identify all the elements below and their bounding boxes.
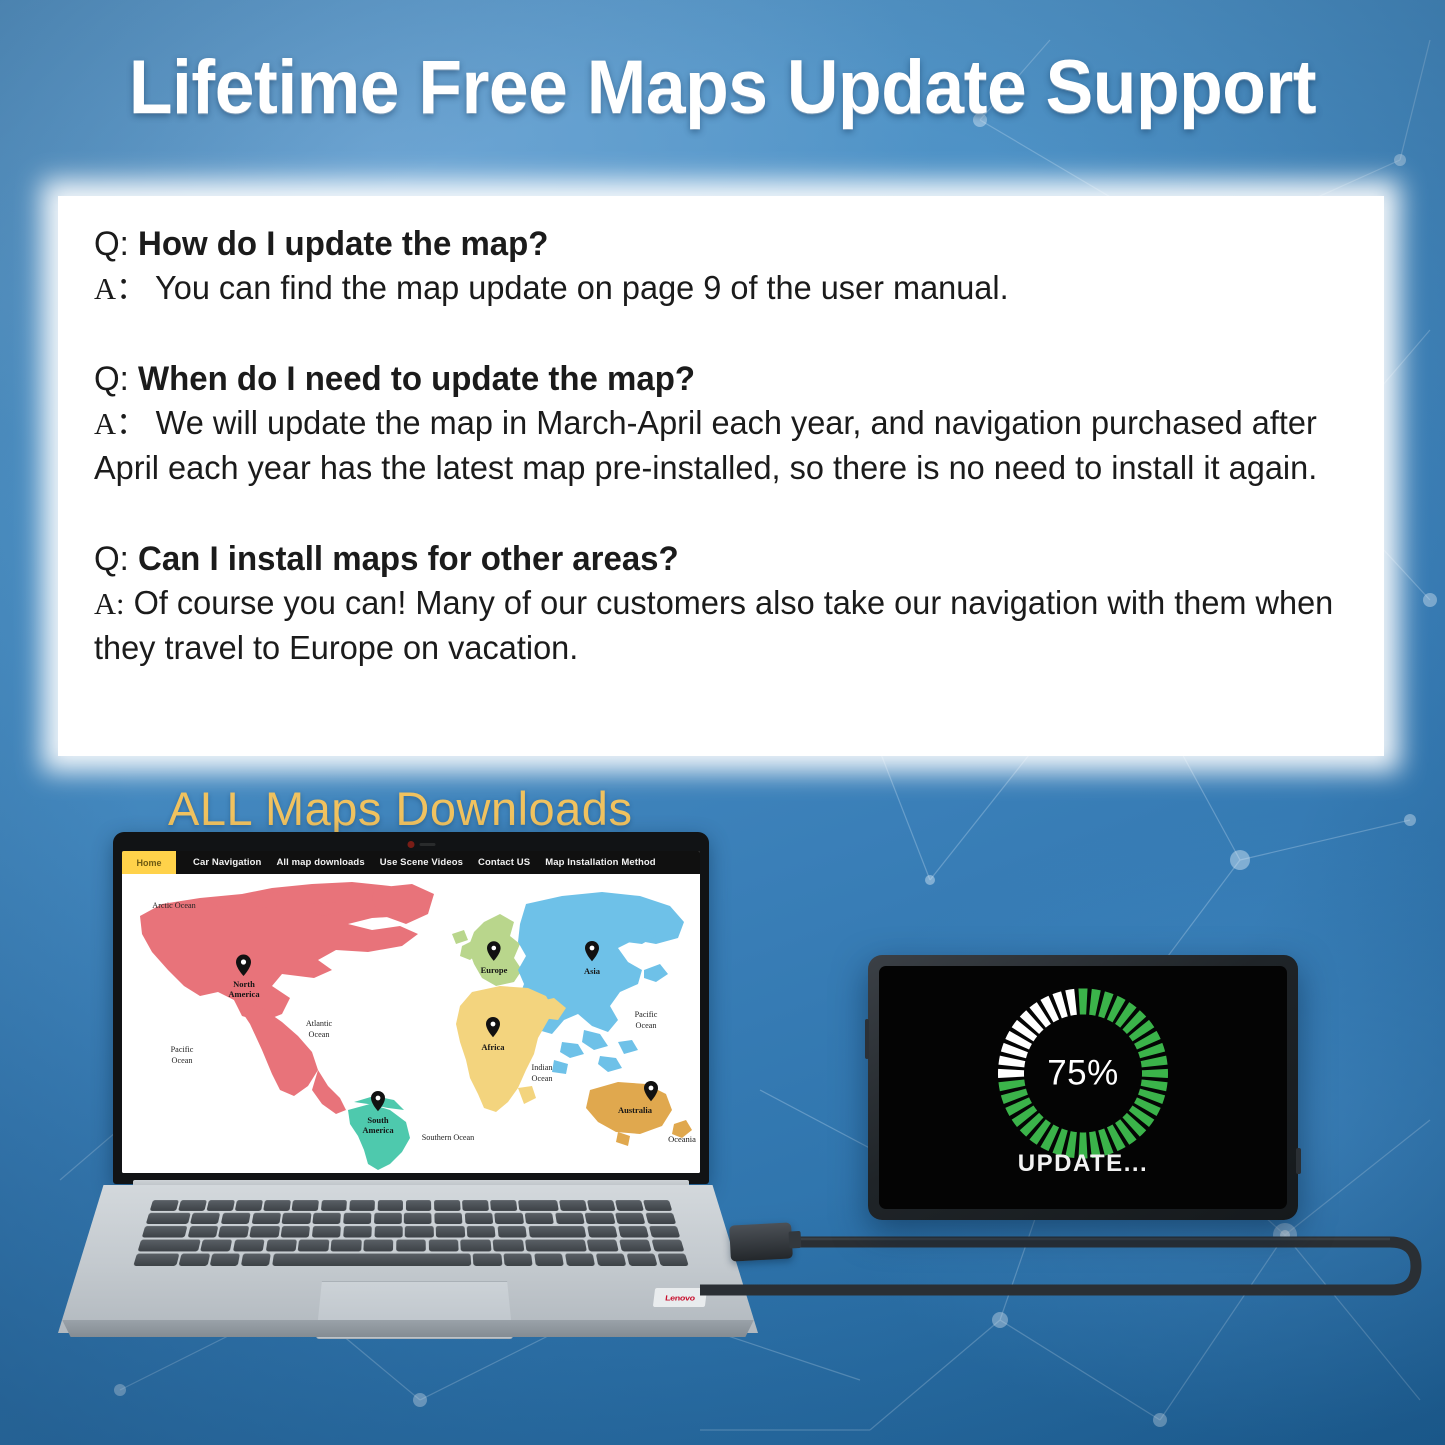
ocean-label-atlantic-line2: Ocean (309, 1030, 330, 1039)
question-text: When do I need to update the map? (138, 360, 695, 398)
nav-item-home[interactable]: Home (122, 851, 176, 874)
continent-label-europe: Europe (481, 965, 508, 975)
answer-prefix: A: (94, 586, 125, 621)
continent-label-asia: Asia (584, 966, 601, 976)
page-title: Lifetime Free Maps Update Support (43, 44, 1401, 131)
lenovo-logo-text: Lenovo (665, 1293, 696, 1301)
faq-answer-row: A： You can find the map update on page 9… (94, 266, 1335, 311)
question-text: How do I update the map? (138, 225, 548, 263)
question-prefix: Q: (94, 540, 129, 578)
continent-label-australia: Australia (618, 1105, 653, 1115)
answer-text: We will update the map in March-April ea… (94, 404, 1317, 486)
answer-prefix: A： (94, 406, 147, 441)
nav-item-map-installation-method[interactable]: Map Installation Method (545, 857, 656, 868)
faq-question-row: Q: Can I install maps for other areas? (94, 537, 1316, 581)
device-screen: 75% UPDATE... (879, 966, 1287, 1209)
laptop-keyboard[interactable] (133, 1200, 688, 1266)
nav-item-contact-us[interactable]: Contact US (478, 857, 530, 868)
keyboard-row (142, 1226, 680, 1237)
continent-label-north-america-line1: North (233, 979, 255, 989)
device-usb-port (1296, 1148, 1301, 1174)
update-status-text: UPDATE... (879, 1150, 1287, 1178)
continent-label-south-america-line1: South (367, 1115, 389, 1125)
head-unit-device: 75% UPDATE... (868, 955, 1298, 1220)
continent-label-africa: Africa (481, 1042, 505, 1052)
faq-item: Q: How do I update the map? A： You can f… (94, 222, 1354, 311)
answer-text: You can find the map update on page 9 of… (155, 269, 1009, 306)
nav-item-car-navigation[interactable]: Car Navigation (193, 857, 261, 868)
progress-ring: 75% (992, 982, 1174, 1164)
keyboard-row (138, 1240, 685, 1252)
laptop-base-lip (58, 1320, 758, 1337)
ocean-label-indian-line2: Ocean (532, 1074, 553, 1083)
ocean-label-pacific-east-line2: Ocean (636, 1021, 657, 1030)
keyboard-row (133, 1254, 688, 1266)
world-map: Arctic Ocean North America Atlantic Ocea… (122, 874, 700, 1173)
continent-label-oceania: Oceania (668, 1134, 696, 1144)
nav-item-all-map-downloads[interactable]: All map downloads (276, 857, 364, 868)
keyboard-row (150, 1200, 672, 1211)
answer-text: Of course you can! Many of our customers… (94, 584, 1333, 666)
ocean-label-pacific-west-line1: Pacific (171, 1045, 194, 1054)
maps-section-heading: ALL Maps Downloads (168, 781, 632, 836)
laptop-screen: Home Car Navigation All map downloads Us… (122, 851, 700, 1173)
usb-connector (729, 1222, 793, 1261)
nav-item-use-scene-videos[interactable]: Use Scene Videos (380, 857, 463, 868)
device-side-button[interactable] (865, 1019, 869, 1059)
poster-canvas: Lifetime Free Maps Update Support Q: How… (0, 0, 1445, 1445)
question-prefix: Q: (94, 225, 129, 263)
ocean-label-atlantic-line1: Atlantic (306, 1019, 333, 1028)
faq-panel: Q: How do I update the map? A： You can f… (58, 196, 1384, 756)
webcam-icon (408, 841, 415, 848)
ocean-label-pacific-east-line1: Pacific (635, 1010, 658, 1019)
faq-question-row: Q: When do I need to update the map? (94, 357, 1316, 401)
progress-percent-label: 75% (992, 982, 1174, 1164)
faq-answer-row: A: Of course you can! Many of our custom… (94, 581, 1335, 671)
ocean-label-southern: Southern Ocean (422, 1133, 475, 1142)
site-navbar: Home Car Navigation All map downloads Us… (122, 851, 700, 874)
laptop-device: Home Car Navigation All map downloads Us… (58, 832, 758, 1352)
faq-answer-row: A： We will update the map in March-April… (94, 401, 1335, 491)
nav-items: Car Navigation All map downloads Use Sce… (176, 851, 656, 874)
faq-question-row: Q: How do I update the map? (94, 222, 1316, 266)
answer-prefix: A： (94, 271, 147, 306)
faq-item: Q: When do I need to update the map? A： … (94, 357, 1354, 491)
question-text: Can I install maps for other areas? (138, 540, 679, 578)
continent-label-south-america-line2: America (362, 1125, 394, 1135)
faq-item: Q: Can I install maps for other areas? A… (94, 537, 1354, 671)
ocean-label-pacific-west-line2: Ocean (172, 1056, 193, 1065)
question-prefix: Q: (94, 360, 129, 398)
keyboard-row (146, 1213, 676, 1224)
laptop-lid: Home Car Navigation All map downloads Us… (113, 832, 709, 1184)
continent-label-north-america-line2: America (228, 989, 260, 999)
ocean-label-arctic: Arctic Ocean (152, 901, 195, 910)
ocean-label-indian-line1: Indian (532, 1063, 553, 1072)
